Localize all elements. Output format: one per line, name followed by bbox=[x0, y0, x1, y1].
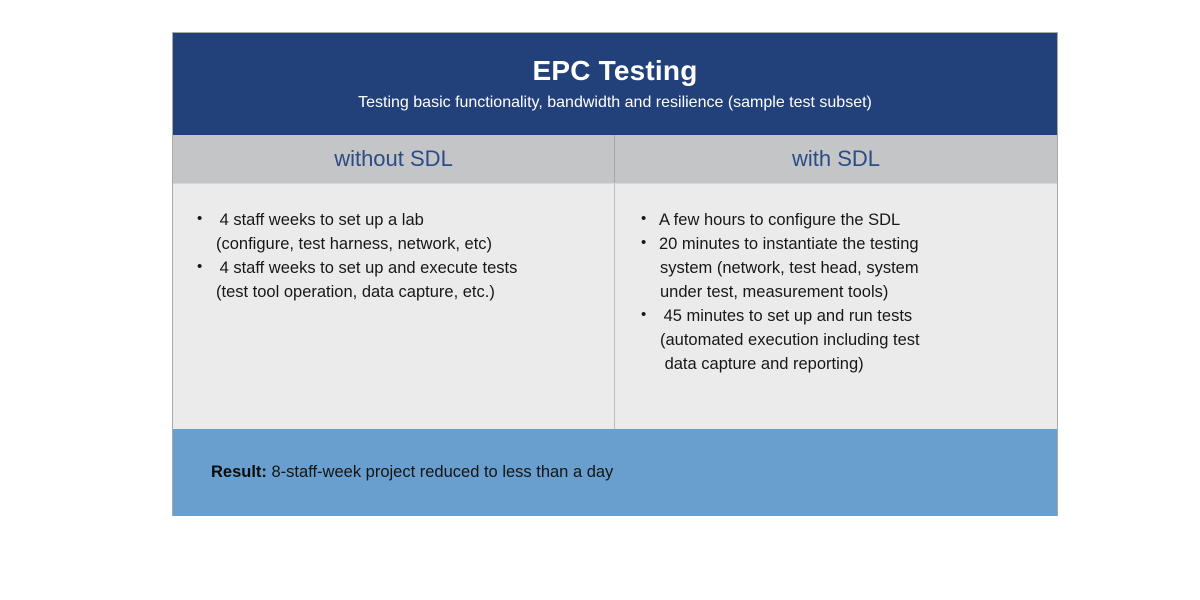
result-text: Result: 8-staff-week project reduced to … bbox=[211, 463, 613, 483]
list-item-line: 4 staff weeks to set up a lab bbox=[215, 208, 606, 232]
list-item-line: under test, measurement tools) bbox=[660, 280, 1047, 304]
comparison-body: 4 staff weeks to set up a lab (configure… bbox=[173, 184, 1057, 429]
list-item-line: (configure, test harness, network, etc) bbox=[216, 232, 606, 256]
list-item: 4 staff weeks to set up and execute test… bbox=[187, 256, 606, 304]
list-item-line: 20 minutes to instantiate the testing bbox=[659, 232, 1047, 256]
list-item-line: 45 minutes to set up and run tests bbox=[659, 304, 1047, 328]
list-item-line: 4 staff weeks to set up and execute test… bbox=[215, 256, 606, 280]
list-item: A few hours to configure the SDL bbox=[631, 208, 1047, 232]
list-item-line: (test tool operation, data capture, etc.… bbox=[216, 280, 606, 304]
list-item-line: system (network, test head, system bbox=[660, 256, 1047, 280]
result-value: 8-staff-week project reduced to less tha… bbox=[267, 463, 613, 481]
list-item-line: (automated execution including test bbox=[660, 328, 1047, 352]
page-title: EPC Testing bbox=[532, 56, 697, 87]
result-footer: Result: 8-staff-week project reduced to … bbox=[173, 429, 1057, 516]
comparison-card: EPC Testing Testing basic functionality,… bbox=[172, 32, 1058, 516]
column-header-with-sdl: with SDL bbox=[614, 135, 1057, 183]
slide-canvas: EPC Testing Testing basic functionality,… bbox=[0, 0, 1200, 600]
without-sdl-bullet-list: 4 staff weeks to set up a lab (configure… bbox=[187, 208, 606, 304]
list-item: 20 minutes to instantiate the testing sy… bbox=[631, 232, 1047, 304]
list-item-line: data capture and reporting) bbox=[660, 352, 1047, 376]
column-without-sdl-content: 4 staff weeks to set up a lab (configure… bbox=[173, 184, 614, 429]
list-item: 4 staff weeks to set up a lab (configure… bbox=[187, 208, 606, 256]
page-subtitle: Testing basic functionality, bandwidth a… bbox=[358, 94, 872, 112]
list-item: 45 minutes to set up and run tests (auto… bbox=[631, 304, 1047, 376]
column-header-row: without SDL with SDL bbox=[173, 135, 1057, 184]
column-with-sdl-content: A few hours to configure the SDL 20 minu… bbox=[614, 184, 1057, 429]
result-label: Result: bbox=[211, 463, 267, 481]
with-sdl-bullet-list: A few hours to configure the SDL 20 minu… bbox=[631, 208, 1047, 376]
column-header-without-sdl-label: without SDL bbox=[334, 148, 453, 170]
column-header-with-sdl-label: with SDL bbox=[792, 148, 880, 170]
card-header: EPC Testing Testing basic functionality,… bbox=[173, 33, 1057, 135]
column-header-without-sdl: without SDL bbox=[173, 135, 614, 183]
list-item-line: A few hours to configure the SDL bbox=[659, 208, 1047, 232]
